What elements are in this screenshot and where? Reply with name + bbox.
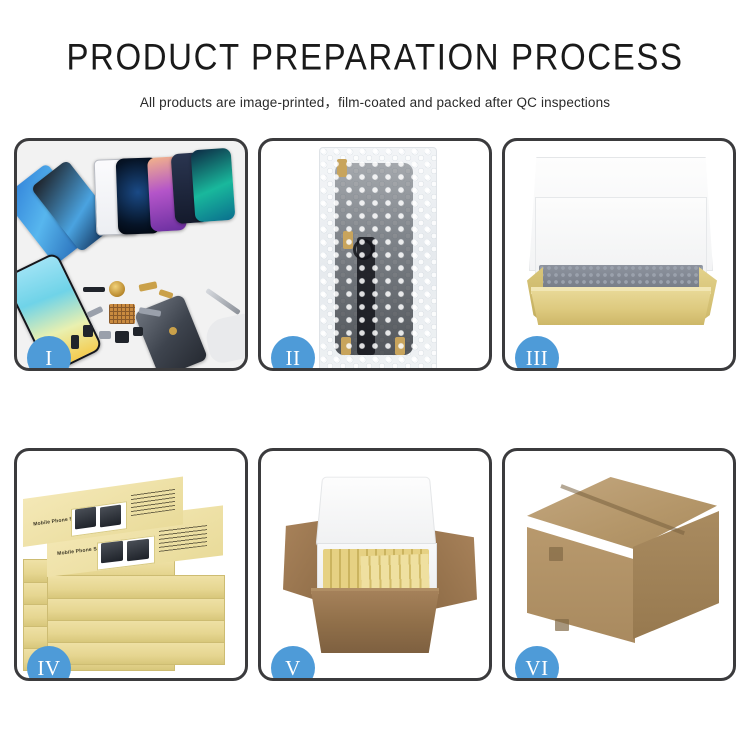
- box-screen-image-2b: [127, 539, 149, 562]
- step-5-illustration: [261, 451, 489, 678]
- gold-contact-tab-top: [337, 159, 347, 177]
- carton-tape-patch-upper: [549, 547, 563, 561]
- spare-part-connector-2: [158, 289, 173, 299]
- logic-board-chip: [109, 304, 135, 324]
- gold-contact-tab-mid: [343, 231, 353, 249]
- process-step-grid: I II III: [14, 138, 736, 681]
- carton-tape-patch-lower: [555, 619, 569, 631]
- spare-part-strip-1: [83, 287, 105, 292]
- stacked-box-right-3: [47, 597, 225, 621]
- yellow-box-front-panel: [531, 291, 711, 325]
- process-step-card-1: I: [14, 138, 248, 371]
- spare-part-ic-chip: [133, 327, 143, 336]
- step-2-illustration: [261, 141, 489, 368]
- page-subtitle: All products are image-printed，film-coat…: [0, 91, 750, 111]
- stacked-box-right-5: [47, 641, 225, 665]
- process-step-card-6: VI: [502, 448, 736, 681]
- packed-yellow-boxes-row-2: [360, 554, 429, 590]
- box-screen-image-1b: [100, 505, 121, 528]
- tweezers-tool: [205, 288, 241, 315]
- step-3-illustration: [505, 141, 733, 368]
- gold-contact-tab-bottom-right: [395, 337, 405, 355]
- gold-contact-tab-bottom-left: [341, 337, 351, 355]
- spare-part-connector-1: [138, 281, 157, 292]
- stacked-box-right-4: [47, 619, 225, 643]
- step-4-illustration: Mobile Phone Spare Parts Mobile Phone Sp…: [17, 451, 245, 678]
- foam-lid-open: [316, 477, 437, 548]
- flex-cable-strip: [357, 237, 375, 355]
- step-6-illustration: [505, 451, 733, 678]
- spare-part-bracket-2: [99, 331, 111, 339]
- page-title: PRODUCT PREPARATION PROCESS: [0, 38, 750, 77]
- spare-part-screw: [169, 327, 177, 335]
- teal-gradient-phone: [191, 148, 236, 223]
- speaker-coil-part: [109, 281, 125, 297]
- spare-part-battery-cell: [115, 331, 129, 343]
- process-step-card-4: Mobile Phone Spare Parts Mobile Phone Sp…: [14, 448, 248, 681]
- box-screen-image-1a: [75, 507, 96, 530]
- spare-part-camera-module: [83, 325, 93, 337]
- process-step-card-5: V: [258, 448, 492, 681]
- spare-part-bracket-1: [86, 306, 103, 318]
- process-step-card-2: II: [258, 138, 492, 371]
- process-step-card-3: III: [502, 138, 736, 371]
- carton-body: [311, 591, 439, 653]
- stacked-box-right-2: [47, 575, 225, 599]
- page-header: PRODUCT PREPARATION PROCESS All products…: [0, 0, 750, 111]
- technician-hand: [203, 313, 245, 366]
- spare-part-sim-tray: [71, 335, 79, 349]
- step-1-illustration: [17, 141, 245, 368]
- box-screen-image-2a: [101, 541, 123, 564]
